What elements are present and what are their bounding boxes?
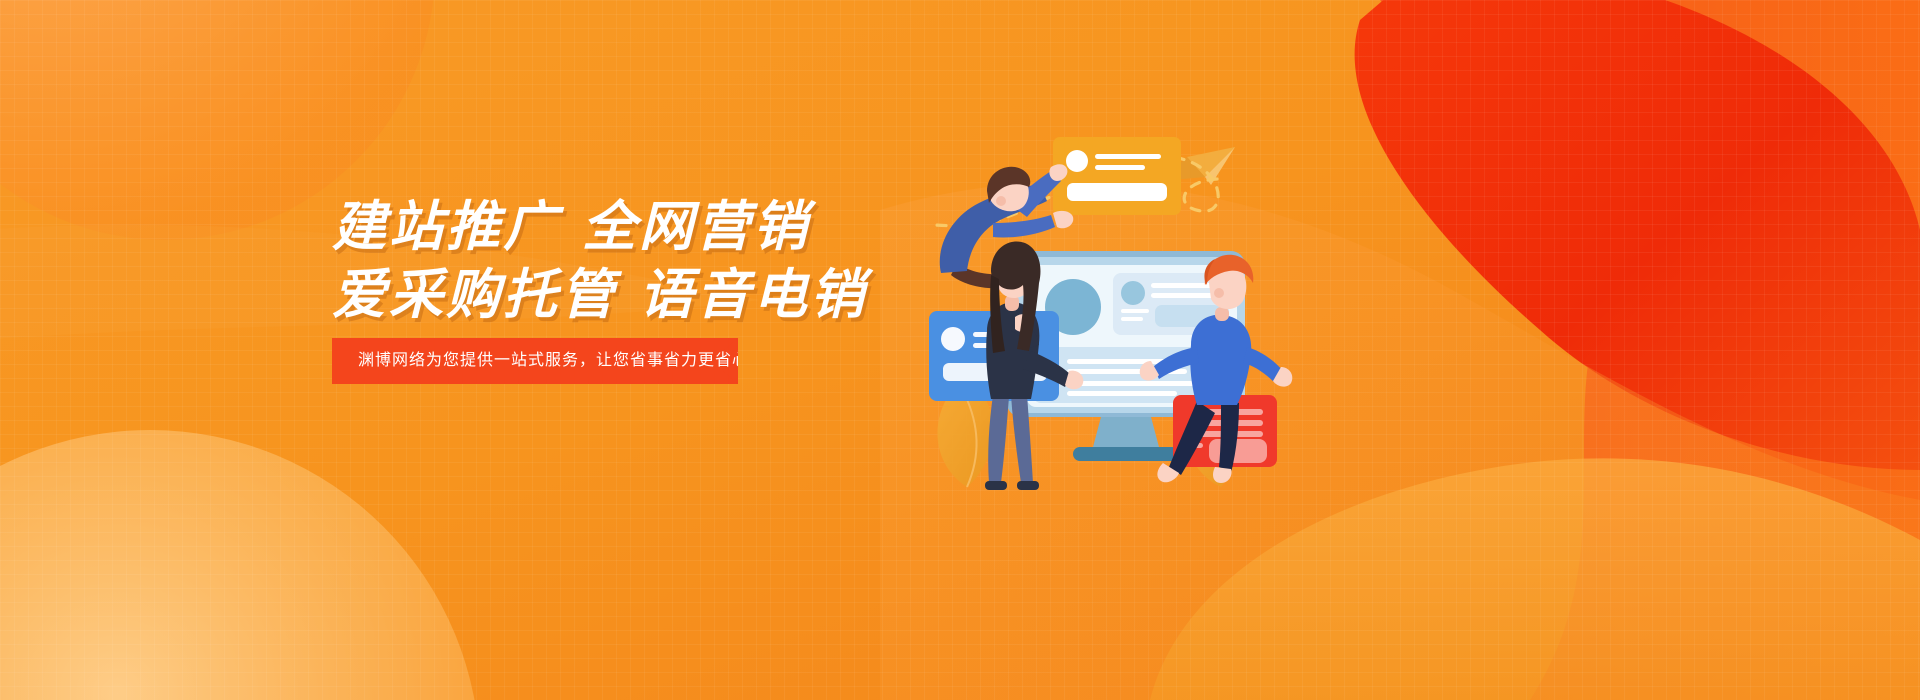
headline-line-2-part-1: 爱采购托管 [332,265,617,325]
headline-line-1-part-2: 全网营销 [582,197,810,257]
headline-line-2-part-2: 语音电销 [639,265,867,325]
headline-line-1: 建站推广全网营销 [332,196,1092,258]
subtitle-ribbon: 渊博网络为您提供一站式服务，让您省事省力更省心 [332,338,738,384]
ribbon-text: 渊博网络为您提供一站式服务，让您省事省力更省心 [332,338,749,384]
copy-block: 建站推广全网营销 爱采购托管语音电销 [332,196,1092,326]
headline-line-2: 爱采购托管语音电销 [332,264,1092,326]
promo-banner: 建站推广全网营销 爱采购托管语音电销 渊博网络为您提供一站式服务，让您省事省力更… [0,0,1920,700]
headline-line-1-part-1: 建站推广 [332,197,560,257]
